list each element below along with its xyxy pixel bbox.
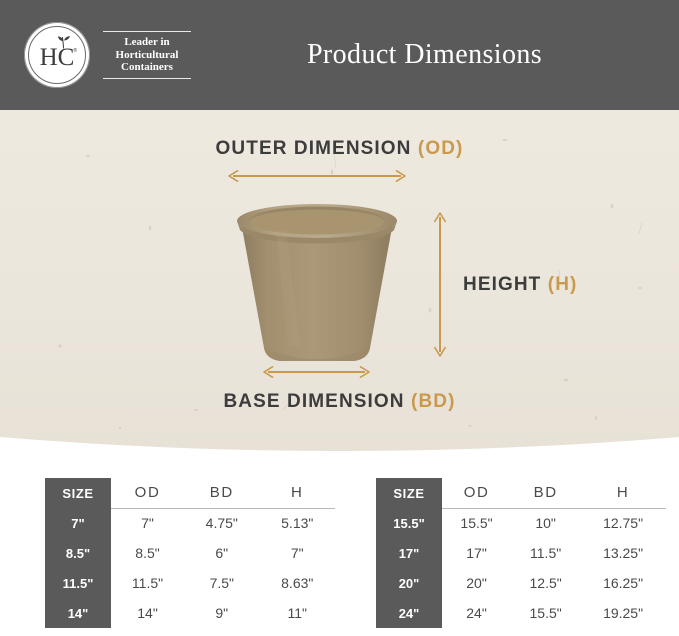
base-dimension-text: BASE DIMENSION xyxy=(223,391,404,412)
cell-size: 24" xyxy=(376,598,442,628)
header-band: HC ® Leader in Horticultural Containers … xyxy=(0,0,679,110)
cell-bd: 11.5" xyxy=(511,538,580,568)
table-row: 17" 17" 11.5" 13.25" xyxy=(376,538,666,568)
arrow-shaft xyxy=(268,371,365,373)
column-header-bd: BD xyxy=(511,478,580,508)
cell-bd: 7.5" xyxy=(184,568,259,598)
height-label: HEIGHT (H) xyxy=(463,274,577,296)
tagline-line-1: Leader in xyxy=(103,36,191,49)
size-table-left: SIZE OD BD H 7" 7" 4.75" 5.13" 8.5" 8.5"… xyxy=(45,478,335,628)
arrow-shaft xyxy=(233,175,401,177)
cell-od: 7" xyxy=(111,508,184,538)
column-header-size: SIZE xyxy=(45,478,111,508)
outer-dimension-text: OUTER DIMENSION xyxy=(216,138,412,159)
arrow-head-left-icon xyxy=(228,170,239,182)
table-row: 14" 14" 9" 11" xyxy=(45,598,335,628)
brand-tagline: Leader in Horticultural Containers xyxy=(103,31,191,79)
base-dimension-abbr: (BD) xyxy=(411,391,456,412)
diagram-panel: OUTER DIMENSION (OD) xyxy=(0,110,679,458)
table-header-row: SIZE OD BD H xyxy=(45,478,335,508)
column-header-h: H xyxy=(260,478,335,508)
arrow-head-right-icon xyxy=(359,366,370,378)
logo-inner: HC ® xyxy=(24,22,90,88)
cell-h: 7" xyxy=(260,538,335,568)
height-arrow xyxy=(433,212,447,357)
column-header-h: H xyxy=(580,478,666,508)
table-row: 24" 24" 15.5" 19.25" xyxy=(376,598,666,628)
table-row: 8.5" 8.5" 6" 7" xyxy=(45,538,335,568)
arrow-head-right-icon xyxy=(395,170,406,182)
cell-h: 8.63" xyxy=(260,568,335,598)
cell-h: 5.13" xyxy=(260,508,335,538)
table-row: 15.5" 15.5" 10" 12.75" xyxy=(376,508,666,538)
base-dimension-label: BASE DIMENSION (BD) xyxy=(0,391,679,413)
table-row: 7" 7" 4.75" 5.13" xyxy=(45,508,335,538)
planter-pot xyxy=(228,200,406,365)
cell-size: 14" xyxy=(45,598,111,628)
arrow-head-left-icon xyxy=(263,366,274,378)
arrow-head-up-icon xyxy=(434,212,446,223)
tagline-line-2: Horticultural xyxy=(103,49,191,62)
table-header-row: SIZE OD BD H xyxy=(376,478,666,508)
outer-dimension-label: OUTER DIMENSION (OD) xyxy=(0,138,679,160)
cell-size: 8.5" xyxy=(45,538,111,568)
table-row: 11.5" 11.5" 7.5" 8.63" xyxy=(45,568,335,598)
height-abbr: (H) xyxy=(548,274,578,295)
cell-od: 8.5" xyxy=(111,538,184,568)
cell-od: 17" xyxy=(442,538,511,568)
outer-dimension-arrow xyxy=(228,169,406,183)
cell-bd: 6" xyxy=(184,538,259,568)
table-row: 20" 20" 12.5" 16.25" xyxy=(376,568,666,598)
cell-od: 14" xyxy=(111,598,184,628)
product-dimensions-infographic: HC ® Leader in Horticultural Containers … xyxy=(0,0,679,636)
cell-h: 16.25" xyxy=(580,568,666,598)
cell-h: 11" xyxy=(260,598,335,628)
size-table-right: SIZE OD BD H 15.5" 15.5" 10" 12.75" 17" … xyxy=(376,478,666,628)
cell-h: 12.75" xyxy=(580,508,666,538)
arrow-shaft xyxy=(439,217,441,352)
cell-size: 11.5" xyxy=(45,568,111,598)
cell-size: 15.5" xyxy=(376,508,442,538)
tagline-line-3: Containers xyxy=(103,61,191,74)
brand-lockup: HC ® Leader in Horticultural Containers xyxy=(24,22,191,88)
column-header-od: OD xyxy=(111,478,184,508)
cell-bd: 15.5" xyxy=(511,598,580,628)
base-dimension-arrow xyxy=(263,365,370,379)
cell-bd: 10" xyxy=(511,508,580,538)
cell-od: 11.5" xyxy=(111,568,184,598)
cell-size: 17" xyxy=(376,538,442,568)
height-text: HEIGHT xyxy=(463,274,541,295)
cell-h: 19.25" xyxy=(580,598,666,628)
cell-bd: 9" xyxy=(184,598,259,628)
logo-monogram: HC xyxy=(24,22,90,88)
cell-h: 13.25" xyxy=(580,538,666,568)
column-header-size: SIZE xyxy=(376,478,442,508)
outer-dimension-abbr: (OD) xyxy=(418,138,464,159)
hc-logo: HC ® xyxy=(24,22,90,88)
cell-od: 20" xyxy=(442,568,511,598)
cell-size: 7" xyxy=(45,508,111,538)
cell-bd: 4.75" xyxy=(184,508,259,538)
cell-bd: 12.5" xyxy=(511,568,580,598)
cell-od: 24" xyxy=(442,598,511,628)
cell-od: 15.5" xyxy=(442,508,511,538)
column-header-od: OD xyxy=(442,478,511,508)
logo-trademark: ® xyxy=(73,48,77,54)
arrow-head-down-icon xyxy=(434,346,446,357)
size-tables: SIZE OD BD H 7" 7" 4.75" 5.13" 8.5" 8.5"… xyxy=(0,478,679,636)
cell-size: 20" xyxy=(376,568,442,598)
column-header-bd: BD xyxy=(184,478,259,508)
